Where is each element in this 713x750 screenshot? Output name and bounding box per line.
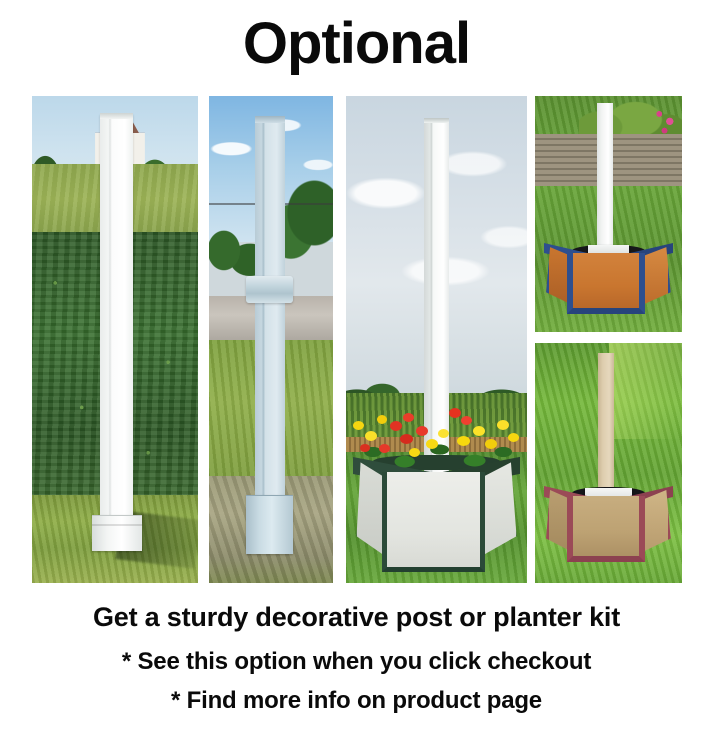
flower-red — [416, 426, 428, 436]
photo-tan-burgundy-planter-kit[interactable] — [535, 343, 682, 583]
flower-yellow — [497, 420, 509, 430]
flower-yellow — [508, 433, 519, 442]
flower-red — [390, 421, 402, 431]
photo-orange-blue-planter-kit[interactable] — [535, 96, 682, 332]
flower-yellow — [377, 415, 387, 424]
planter-panel-center — [567, 496, 645, 562]
planter-panel-center — [382, 472, 485, 572]
caption-bullet-2: * Find more info on product page — [0, 686, 713, 716]
planter-panel-right — [480, 462, 520, 557]
post-base-skirt — [92, 515, 142, 552]
hexagon-planter-kit-tan — [544, 482, 673, 568]
optional-upsell-graphic: Optional — [0, 0, 713, 750]
post-collar-trim — [246, 276, 293, 303]
planter-panel-center — [567, 253, 645, 314]
hexagon-planter-kit-orange — [544, 240, 673, 320]
post-base-skirt — [246, 495, 293, 553]
photo-post-with-flower-planter[interactable] — [346, 96, 527, 583]
planter-panel-right — [642, 490, 673, 552]
photo-gallery — [0, 0, 713, 750]
flower-red — [461, 416, 472, 425]
post-cap — [424, 118, 449, 122]
caption-headline: Get a sturdy decorative post or planter … — [0, 600, 713, 634]
decorative-post — [100, 115, 133, 544]
post-cap — [255, 116, 285, 123]
post-cap — [100, 113, 133, 120]
planter-panel-right — [642, 247, 673, 305]
flower-red — [403, 413, 414, 422]
flower-red — [449, 408, 461, 418]
photo-blue-post-roadside[interactable] — [209, 96, 333, 583]
sunlit-grass — [609, 343, 683, 439]
photo-white-post-field[interactable] — [32, 96, 198, 583]
flower-yellow — [409, 448, 420, 457]
caption-bullet-1: * See this option when you click checkou… — [0, 647, 713, 677]
flower-bed — [350, 393, 524, 476]
decorative-post — [255, 120, 285, 539]
